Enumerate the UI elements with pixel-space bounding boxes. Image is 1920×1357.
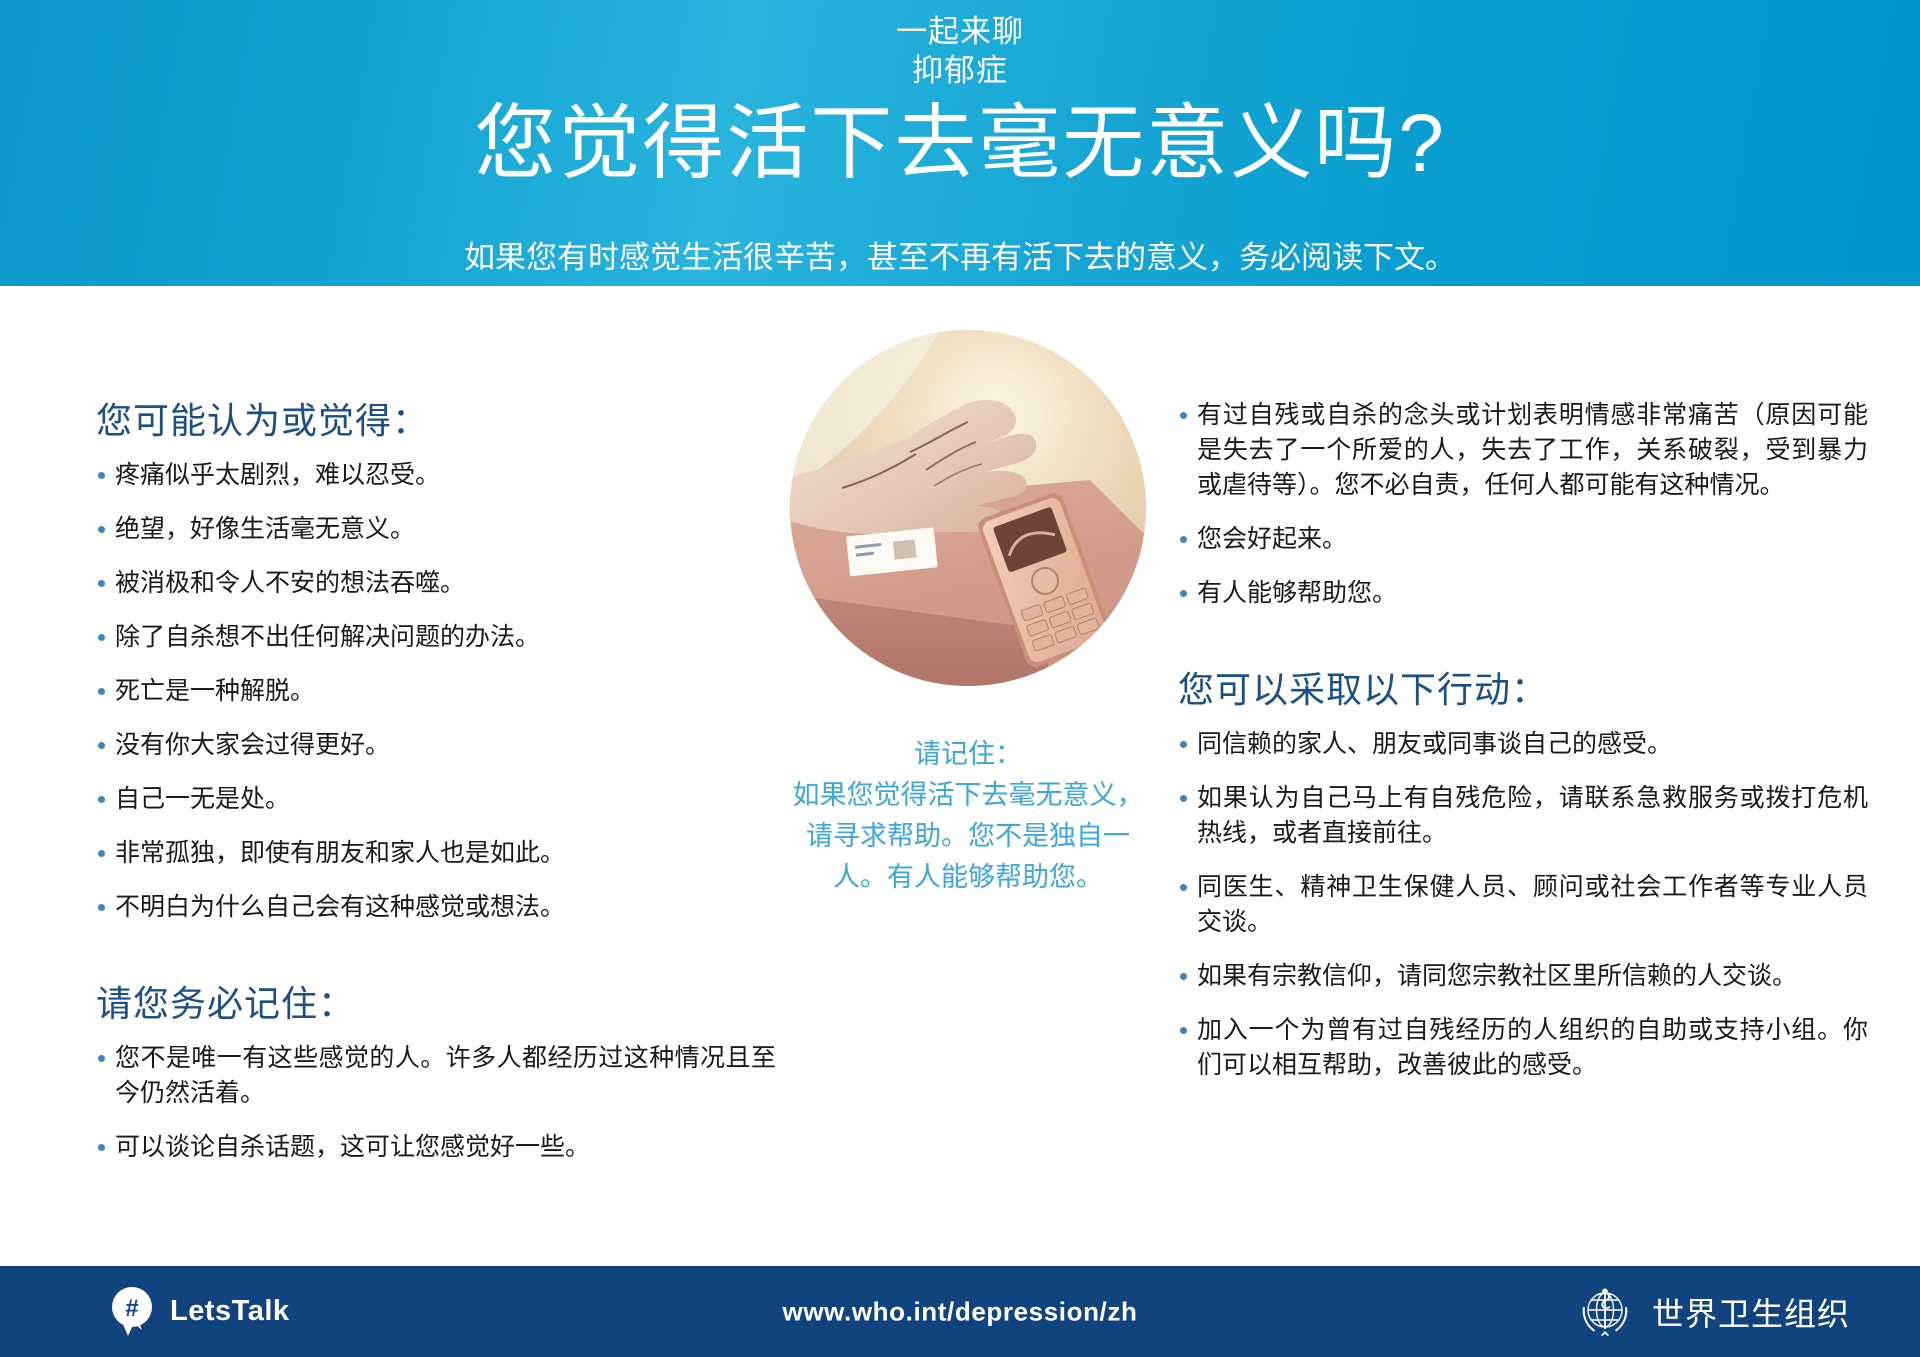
list-item: 如果有宗教信仰，请同您宗教社区里所信赖的人交谈。 — [1178, 959, 1868, 994]
list-item: 可以谈论自杀话题，这可让您感觉好一些。 — [96, 1130, 776, 1165]
list-item: 绝望，好像生活毫无意义。 — [96, 512, 776, 547]
poster-subheadline: 如果您有时感觉生活很辛苦，甚至不再有活下去的意义，务必阅读下文。 — [0, 238, 1920, 278]
list-item: 您不是唯一有这些感觉的人。许多人都经历过这种情况且至今仍然活着。 — [96, 1041, 776, 1111]
left-section1-title: 您可能认为或觉得： — [96, 398, 776, 444]
campaign-line-2: 抑郁症 — [0, 51, 1920, 90]
list-item: 有过自残或自杀的念头或计划表明情感非常痛苦（原因可能是失去了一个所爱的人，失去了… — [1178, 398, 1868, 503]
campaign-tagline: 一起来聊 抑郁症 — [0, 12, 1920, 90]
center-column: 请记住： 如果您觉得活下去毫无意义，请寻求帮助。您不是独自一人。有人能够帮助您。 — [790, 330, 1146, 898]
poster-headline: 您觉得活下去毫无意义吗? — [0, 96, 1920, 192]
campaign-line-1: 一起来聊 — [0, 12, 1920, 51]
who-organization-name: 世界卫生组织 — [1652, 1289, 1850, 1335]
remember-callout: 请记住： 如果您觉得活下去毫无意义，请寻求帮助。您不是独自一人。有人能够帮助您。 — [790, 734, 1146, 898]
list-item: 除了自杀想不出任何解决问题的办法。 — [96, 620, 776, 655]
list-item: 非常孤独，即使有朋友和家人也是如此。 — [96, 836, 776, 871]
left-section2-title: 请您务必记住： — [96, 981, 776, 1027]
list-item: 被消极和令人不安的想法吞噬。 — [96, 566, 776, 601]
hand-reaching-for-mobile-phone-illustration — [790, 330, 1146, 686]
right-section2-title: 您可以采取以下行动： — [1178, 667, 1868, 713]
right-section1-list: 有过自残或自杀的念头或计划表明情感非常痛苦（原因可能是失去了一个所爱的人，失去了… — [1178, 398, 1868, 611]
poster-header: 一起来聊 抑郁症 您觉得活下去毫无意义吗? 如果您有时感觉生活很辛苦，甚至不再有… — [0, 0, 1920, 286]
list-item: 死亡是一种解脱。 — [96, 674, 776, 709]
list-item: 自己一无是处。 — [96, 782, 776, 817]
list-item: 如果认为自己马上有自残危险，请联系急救服务或拨打危机热线，或者直接前往。 — [1178, 781, 1868, 851]
list-item: 您会好起来。 — [1178, 522, 1868, 557]
right-section2-list: 同信赖的家人、朋友或同事谈自己的感受。 如果认为自己马上有自残危险，请联系急救服… — [1178, 727, 1868, 1083]
who-emblem-icon — [1574, 1281, 1636, 1343]
poster-footer: # LetsTalk www.who.int/depression/zh — [0, 1266, 1920, 1357]
who-logo: 世界卫生组织 — [1574, 1281, 1850, 1343]
left-section2-list: 您不是唯一有这些感觉的人。许多人都经历过这种情况且至今仍然活着。 可以谈论自杀话… — [96, 1041, 776, 1165]
remember-body: 如果您觉得活下去毫无意义，请寻求帮助。您不是独自一人。有人能够帮助您。 — [793, 780, 1144, 892]
who-depression-poster: 一起来聊 抑郁症 您觉得活下去毫无意义吗? 如果您有时感觉生活很辛苦，甚至不再有… — [0, 0, 1920, 1357]
left-content-column: 您可能认为或觉得： 疼痛似乎太剧烈，难以忍受。 绝望，好像生活毫无意义。 被消极… — [96, 398, 776, 1184]
remember-title: 请记住： — [790, 734, 1146, 775]
list-item: 疼痛似乎太剧烈，难以忍受。 — [96, 458, 776, 493]
list-item: 不明白为什么自己会有这种感觉或想法。 — [96, 890, 776, 925]
right-content-column: 有过自残或自杀的念头或计划表明情感非常痛苦（原因可能是失去了一个所爱的人，失去了… — [1178, 398, 1868, 1102]
list-item: 加入一个为曾有过自残经历的人组织的自助或支持小组。你们可以相互帮助，改善彼此的感… — [1178, 1013, 1868, 1083]
list-item: 同信赖的家人、朋友或同事谈自己的感受。 — [1178, 727, 1868, 762]
list-item: 没有你大家会过得更好。 — [96, 728, 776, 763]
list-item: 同医生、精神卫生保健人员、顾问或社会工作者等专业人员交谈。 — [1178, 870, 1868, 940]
left-section1-list: 疼痛似乎太剧烈，难以忍受。 绝望，好像生活毫无意义。 被消极和令人不安的想法吞噬… — [96, 458, 776, 925]
list-item: 有人能够帮助您。 — [1178, 576, 1868, 611]
